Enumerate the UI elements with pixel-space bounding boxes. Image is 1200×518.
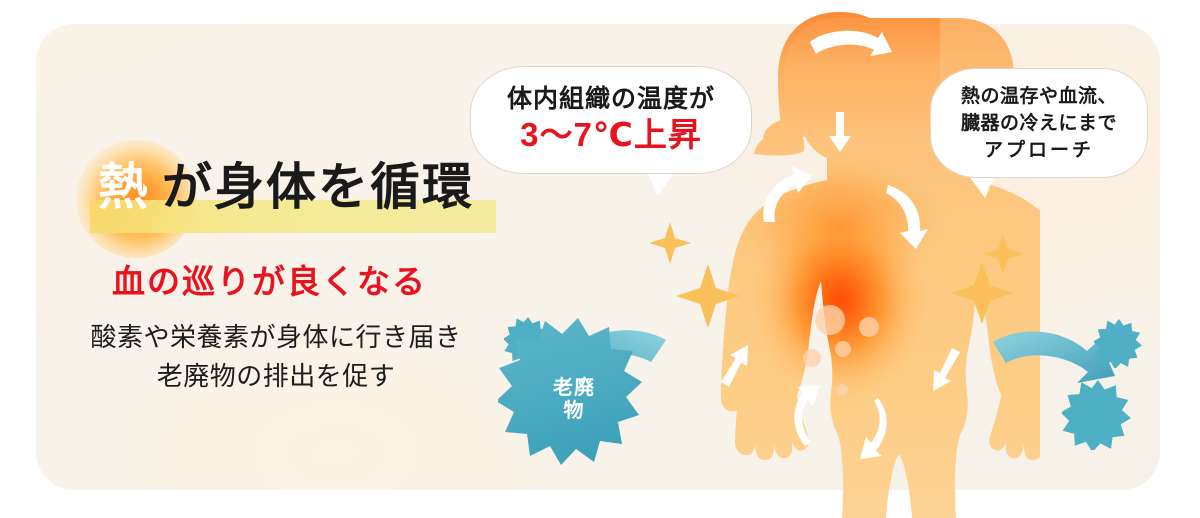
waste-badge: 老廃 物 (498, 312, 658, 472)
body-text: 酸素や栄養素が身体に行き届き 老廃物の排出を促す (66, 318, 486, 396)
body-line-1: 酸素や栄養素が身体に行き届き (66, 318, 486, 357)
temperature-bubble: 体内組織の温度が 3〜7℃上昇 (470, 66, 752, 174)
headline-rest: が身体を循環 (162, 156, 474, 218)
approach-bubble-line2: 臓器の冷えにまで (931, 110, 1147, 137)
approach-bubble: 熱の温存や血流、 臓器の冷えにまで アプローチ (930, 68, 1148, 178)
temperature-bubble-line2: 3〜7℃上昇 (471, 115, 751, 155)
page-title: 熱 が身体を循環 (84, 152, 524, 244)
temperature-bubble-line1: 体内組織の温度が (471, 83, 751, 115)
headline-highlight-char: 熱 (98, 158, 148, 216)
body-line-2: 老廃物の排出を促す (66, 357, 486, 396)
approach-bubble-line3: アプローチ (931, 137, 1147, 164)
burst-icon (1094, 318, 1144, 368)
infographic-root: 老廃 物 熱 が身体を循環 血の巡りが良くなる 酸素や栄養素が身体に行き届き 老… (0, 0, 1200, 518)
approach-bubble-line1: 熱の温存や血流、 (931, 83, 1147, 110)
burst-badge-icon (498, 312, 658, 472)
subheading-red: 血の巡りが良くなる (112, 262, 492, 302)
burst-icon (1062, 378, 1134, 450)
